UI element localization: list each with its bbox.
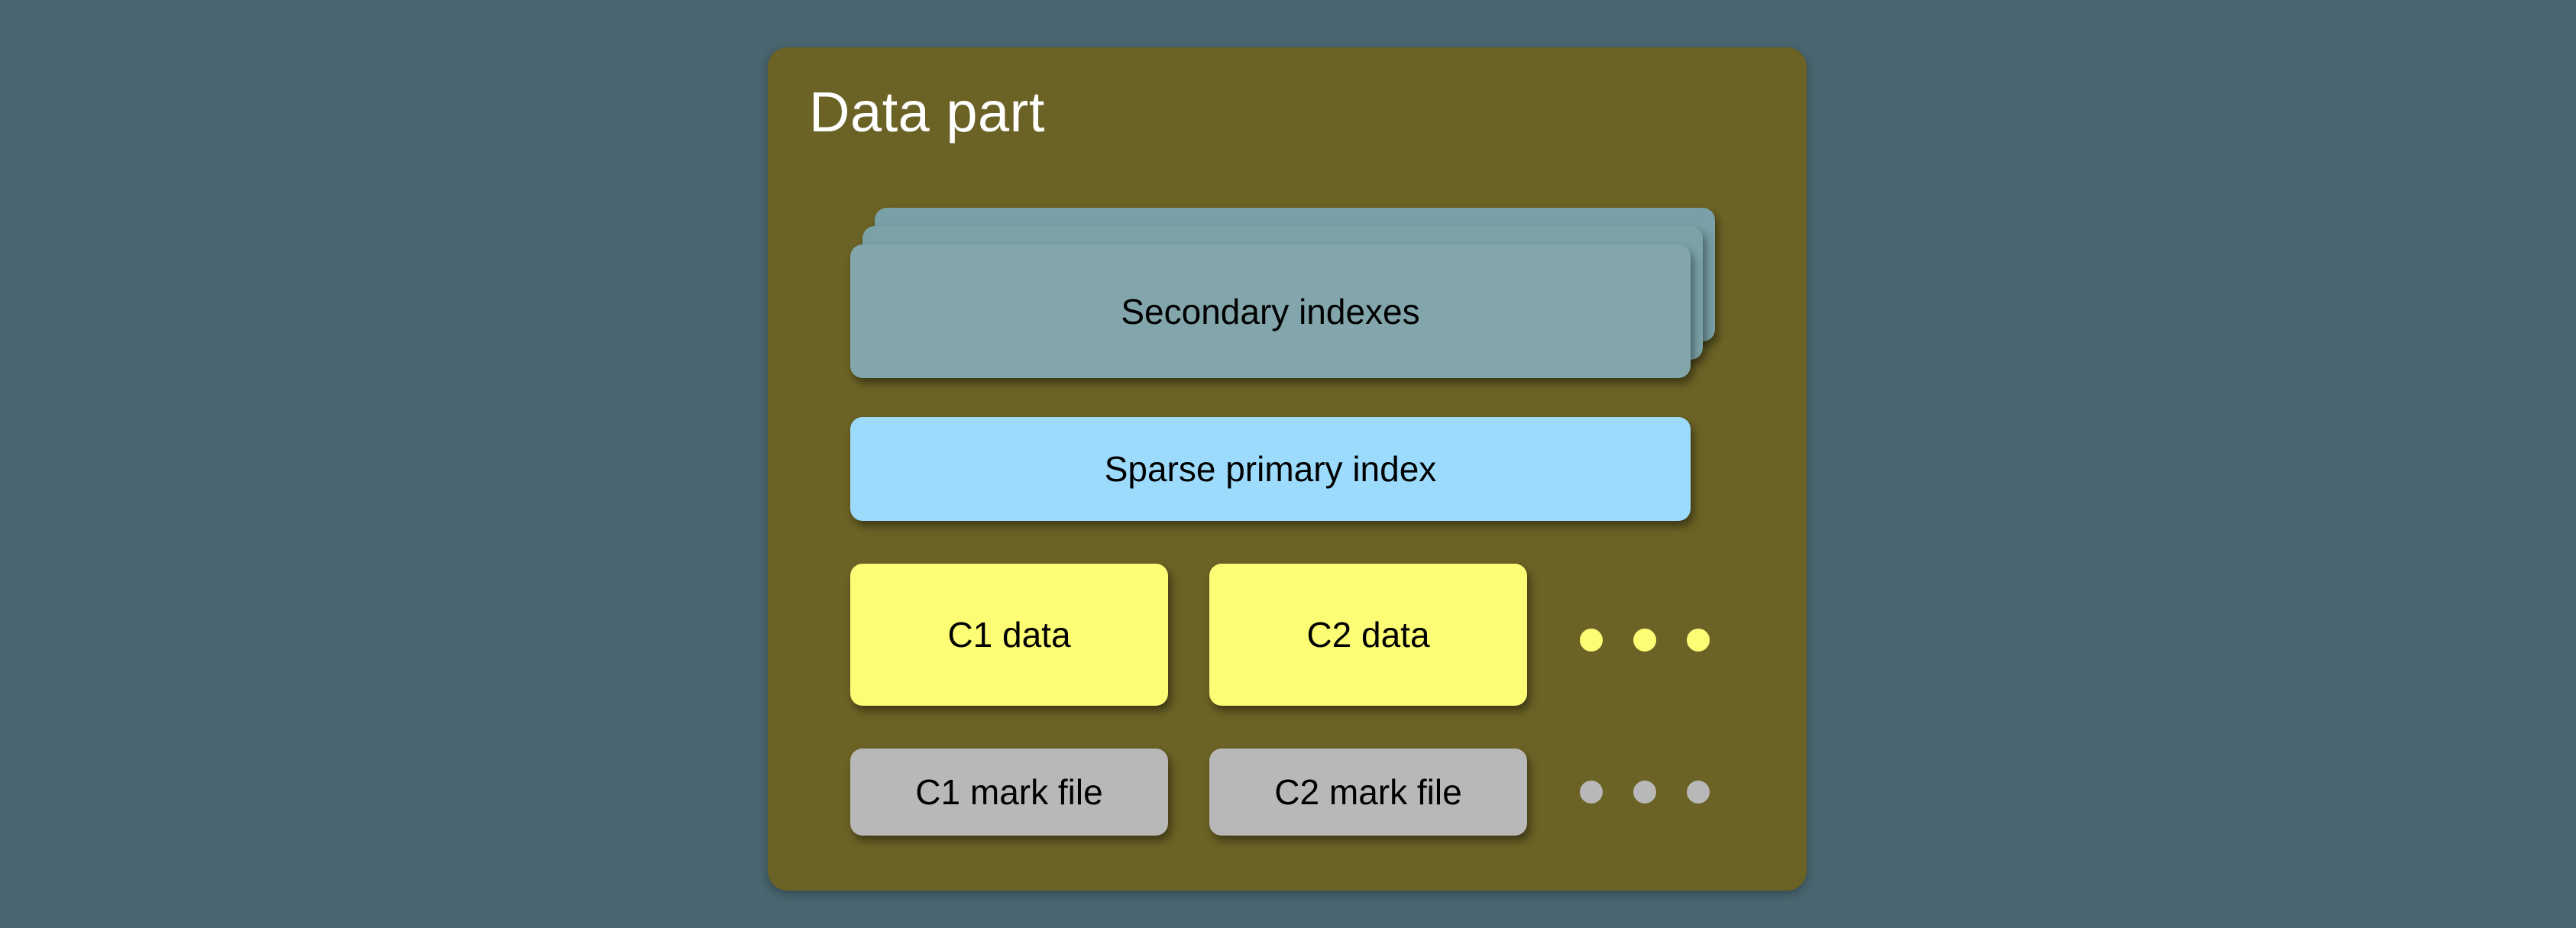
ellipsis-dot-icon [1633,781,1656,804]
ellipsis-dot-icon [1580,629,1603,652]
column-mark-file-ellipsis [1580,781,1710,804]
sparse-primary-index-card[interactable]: Sparse primary index [850,417,1691,521]
column-mark-file-card-c1[interactable]: C1 mark file [850,749,1168,836]
column-data-ellipsis [1580,629,1710,652]
column-data-card-c1[interactable]: C1 data [850,564,1168,706]
ellipsis-dot-icon [1687,629,1710,652]
diagram-layers: Secondary indexes Sparse primary index C… [0,0,2576,928]
ellipsis-dot-icon [1687,781,1710,804]
diagram-canvas: Data part Secondary indexes Sparse prima… [0,0,2576,928]
column-mark-file-card-c2[interactable]: C2 mark file [1209,749,1527,836]
ellipsis-dot-icon [1580,781,1603,804]
ellipsis-dot-icon [1633,629,1656,652]
column-data-card-c2[interactable]: C2 data [1209,564,1527,706]
secondary-indexes-card[interactable]: Secondary indexes [850,244,1691,378]
